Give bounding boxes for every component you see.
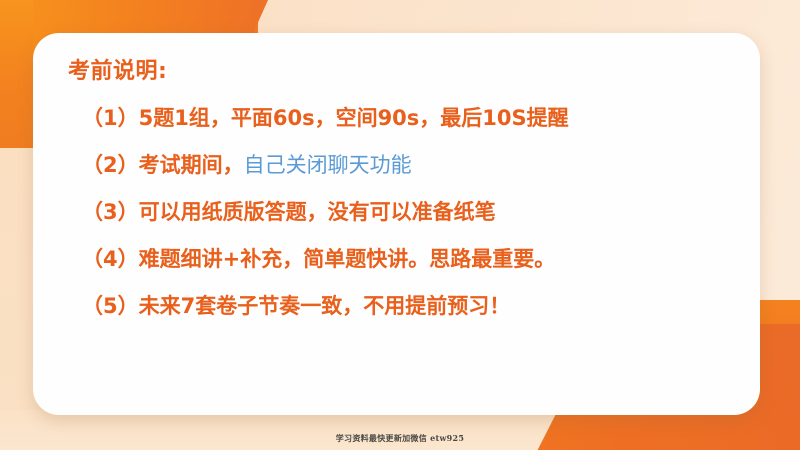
content-card: 考前说明: （1） 5题1组，平面60s，空间90s，最后10S提醒 （2） 考… (33, 33, 760, 415)
slide-canvas: 考前说明: （1） 5题1组，平面60s，空间90s，最后10S提醒 （2） 考… (0, 0, 800, 450)
list-item-text: 考试期间， (139, 155, 244, 176)
list-item-number: （5） (82, 296, 139, 317)
list-item: （1） 5题1组，平面60s，空间90s，最后10S提醒 (68, 95, 730, 142)
content-card-inner: 考前说明: （1） 5题1组，平面60s，空间90s，最后10S提醒 （2） 考… (33, 33, 760, 415)
list-item-text: 可以用纸质版答题，没有可以准备纸笔 (139, 202, 496, 223)
list-item: （4） 难题细讲+补充，简单题快讲。思路最重要。 (68, 236, 730, 283)
decoration-left-orange-strip (0, 0, 33, 152)
list-item-number: （3） (82, 202, 139, 223)
list-item-number: （4） (82, 249, 139, 270)
list-item-text: 未来7套卷子节奏一致，不用提前预习！ (139, 296, 511, 317)
page-title: 考前说明: (68, 59, 730, 85)
list-item-number: （1） (82, 108, 139, 129)
list-item: （3） 可以用纸质版答题，没有可以准备纸笔 (68, 189, 730, 236)
watermark: 学习资料最快更新加微信 etw925 (0, 433, 800, 444)
list-item-text: 5题1组，平面60s，空间90s，最后10S提醒 (139, 108, 569, 129)
list-item-number: （2） (82, 155, 139, 176)
decoration-bottom-peach-strip (0, 410, 560, 450)
list-item: （5） 未来7套卷子节奏一致，不用提前预习！ (68, 283, 730, 330)
list-item-text-highlight: 自己关闭聊天功能 (244, 155, 412, 176)
list-item-text: 难题细讲+补充，简单题快讲。思路最重要。 (139, 249, 556, 270)
decoration-left-peach-panel (0, 148, 36, 450)
list-item: （2） 考试期间， 自己关闭聊天功能 (68, 142, 730, 189)
